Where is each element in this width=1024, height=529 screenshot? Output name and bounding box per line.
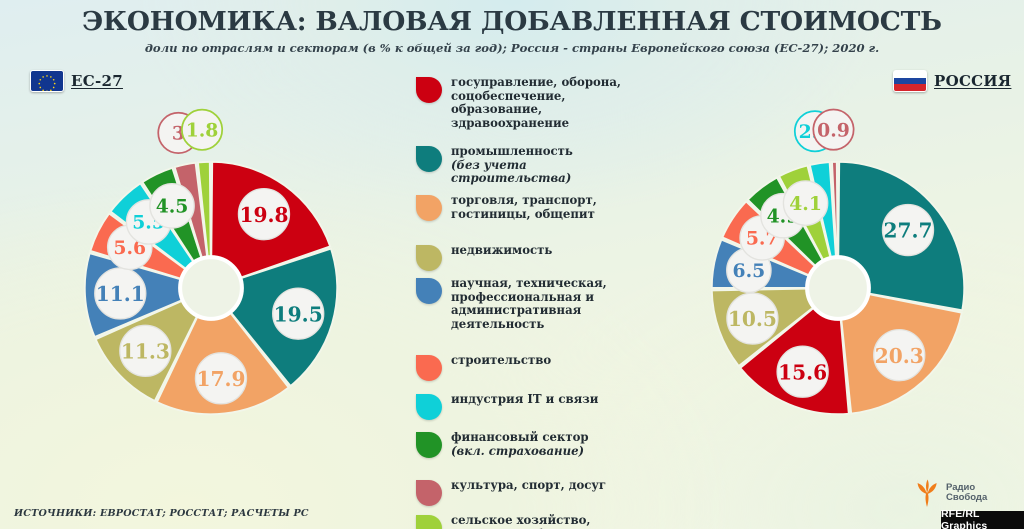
pie-value-label: 6.5 [733,260,766,282]
pie-value-label: 17.9 [196,367,245,391]
legend-item-9[interactable]: сельское хозяйство, лесная и рыбная пром… [416,514,631,529]
legend-item-3[interactable]: недвижимость [416,244,552,271]
rfe-rl-graphics-credit: RFE/RL Graphics [941,511,1024,529]
legend-item-label: научная, техническая, профессиональная и… [451,277,631,331]
logo-line-1: Радио [946,482,975,493]
sources-note: ИСТОЧНИКИ: ЕВРОСТАТ; РОССТАТ; РАСЧЕТЫ РС [14,508,309,519]
legend-item-4[interactable]: научная, техническая, профессиональная и… [416,277,631,331]
legend-item-label: строительство [451,354,551,368]
pie-value-label: 1.8 [186,119,219,141]
legend-item-label: госуправление, оборона, соцобеспечение, … [451,76,631,130]
legend-item-label: культура, спорт, досуг [451,479,606,493]
legend-item-label: торговля, транспорт, гостиницы, общепит [451,194,631,221]
radio-svoboda-logo: Радио Свобода [912,478,987,508]
legend-swatch-icon [416,77,442,103]
legend-swatch-icon [416,146,442,172]
legend-swatch-icon [416,394,442,420]
badge-russia-label: РОССИЯ [934,72,1011,90]
page-title: ЭКОНОМИКА: ВАЛОВАЯ ДОБАВЛЕННАЯ СТОИМОСТЬ [0,6,1024,37]
eu-stars-icon [31,71,63,92]
legend-item-8[interactable]: культура, спорт, досуг [416,479,606,506]
badge-eu-27: ЕС-27 [30,70,123,92]
legend-item-subnote: (без учета строительства) [451,159,631,186]
legend-swatch-icon [416,195,442,221]
pie-value-label: 4.5 [156,196,189,218]
pie-center-hole [180,257,242,319]
pie-value-label: 10.5 [728,307,777,331]
flag-stripe-red [894,84,926,91]
pie-value-label: 15.6 [778,360,827,384]
pie-value-label: 0.9 [817,119,850,141]
legend-item-label: финансовый сектор(вкл. страхование) [451,431,589,458]
badge-russia: РОССИЯ [893,70,1011,92]
pie-value-label: 27.7 [883,219,932,243]
pie-svg-russia: 27.720.315.610.56.55.74.94.12.80.9 [650,100,1024,476]
page-subtitle: доли по отраслям и секторам (в % к общей… [0,41,1024,55]
legend-item-label: промышленность(без учета строительства) [451,145,631,186]
legend-item-6[interactable]: индустрия IT и связи [416,393,598,420]
pie-value-label: 4.1 [789,193,822,215]
flame-icon [912,478,942,508]
pie-value-label: 11.1 [96,282,145,306]
legend-item-subnote: (вкл. страхование) [451,445,589,459]
radio-svoboda-wordmark: Радио Свобода [946,483,987,504]
russia-flag-icon [893,70,927,92]
legend-swatch-icon [416,432,442,458]
eu-flag-icon [30,70,64,92]
legend-item-label: сельское хозяйство, лесная и рыбная пром… [451,514,631,529]
legend-item-2[interactable]: торговля, транспорт, гостиницы, общепит [416,194,631,221]
legend-item-label: индустрия IT и связи [451,393,598,407]
legend-swatch-icon [416,515,442,529]
legend-swatch-icon [416,480,442,506]
pie-svg-eu: 19.819.517.911.311.15.65.54.531.8 [23,100,399,476]
flag-stripe-blue [894,78,926,85]
pie-value-label: 19.5 [274,302,323,326]
logo-line-2: Свобода [946,492,987,503]
legend-item-7[interactable]: финансовый сектор(вкл. страхование) [416,431,589,458]
legend-item-label: недвижимость [451,244,552,258]
flag-stripe-white [894,71,926,78]
pie-chart-eu-27: 19.819.517.911.311.15.65.54.531.8 [23,100,399,476]
legend: госуправление, оборона, соцобеспечение, … [416,76,631,529]
legend-item-5[interactable]: строительство [416,354,551,381]
badge-eu-label: ЕС-27 [71,72,123,90]
legend-swatch-icon [416,355,442,381]
legend-swatch-icon [416,278,442,304]
pie-value-label: 20.3 [875,344,924,368]
legend-swatch-icon [416,245,442,271]
pie-center-hole [807,257,869,319]
pie-value-label: 19.8 [239,203,288,227]
legend-item-1[interactable]: промышленность(без учета строительства) [416,145,631,186]
pie-chart-russia: 27.720.315.610.56.55.74.94.12.80.9 [650,100,1024,476]
legend-item-0[interactable]: госуправление, оборона, соцобеспечение, … [416,76,631,130]
pie-value-label: 11.3 [121,340,170,364]
